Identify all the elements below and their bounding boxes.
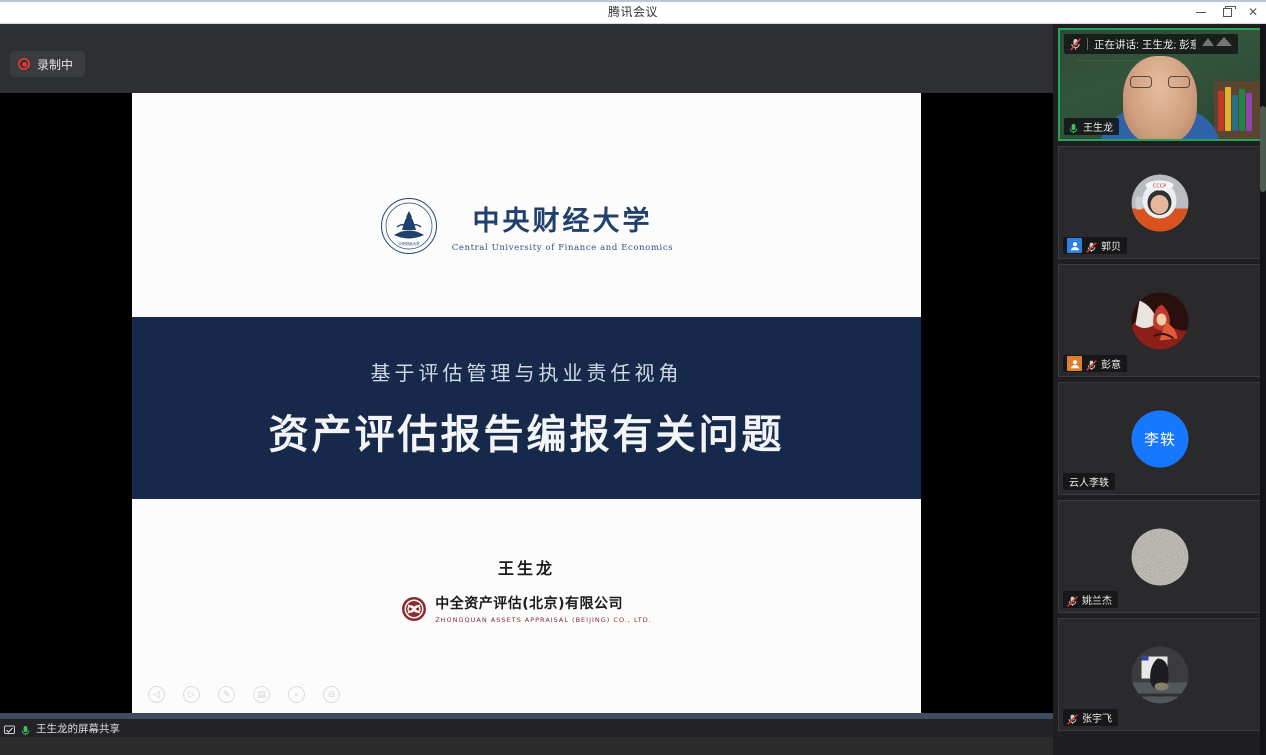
slide-subtitle: 基于评估管理与执业责任视角 bbox=[371, 357, 683, 386]
avatar-initials: 李轶 bbox=[1132, 410, 1189, 467]
participant-name: 姚兰杰 bbox=[1082, 592, 1112, 607]
presentation-toolbar[interactable]: ◁ ▷ ✎ ▤ ⌕ ⊖ bbox=[140, 686, 340, 703]
record-dot-icon bbox=[18, 58, 30, 70]
participant-rail-scrollbar[interactable] bbox=[1260, 24, 1266, 755]
screen-share-label: 王生龙的屏幕共享 bbox=[36, 721, 120, 736]
tencent-meeting-window: 腾讯会议 ✕ 录制中 bbox=[0, 0, 1266, 755]
mic-muted-icon bbox=[1086, 358, 1097, 369]
participant-tile-4[interactable]: 李轶 云人李轶 bbox=[1058, 382, 1262, 495]
participant-name-tag: 张宇飞 bbox=[1063, 709, 1118, 726]
mic-muted-icon bbox=[1070, 38, 1081, 51]
mic-muted-icon bbox=[1067, 712, 1078, 723]
university-name-cn: 中央财经大学 bbox=[472, 199, 652, 238]
mic-muted-icon bbox=[1067, 594, 1078, 605]
svg-text:中央财经大学: 中央财经大学 bbox=[398, 241, 420, 246]
audio-wave-icon bbox=[1202, 35, 1232, 53]
bookshelf bbox=[1214, 81, 1260, 139]
zoom-icon[interactable]: ⌕ bbox=[288, 686, 305, 703]
me-badge-icon bbox=[1067, 356, 1082, 371]
pen-annotate-icon[interactable]: ✎ bbox=[218, 686, 235, 703]
window-controls: ✕ bbox=[1188, 0, 1266, 24]
participant-tile-3[interactable]: 彭意 bbox=[1058, 264, 1262, 377]
maximize-restore-button[interactable] bbox=[1214, 0, 1240, 24]
all-slides-icon[interactable]: ▤ bbox=[253, 686, 270, 703]
stage-top-letterbox bbox=[0, 24, 1053, 93]
mic-muted-icon bbox=[1086, 240, 1097, 251]
speaking-label: 正在讲话: 王生龙; 彭意; bbox=[1094, 37, 1196, 52]
university-logo: 中央财经大学 中央财经大学 Central University of Fina… bbox=[132, 197, 921, 255]
titlebar-accent bbox=[0, 0, 1266, 2]
shared-screen-stage[interactable]: 录制中 中央财经大学 bbox=[0, 24, 1053, 737]
presenter-name: 王生龙 bbox=[498, 555, 555, 579]
share-screen-icon bbox=[4, 723, 15, 734]
window-titlebar: 腾讯会议 ✕ bbox=[0, 0, 1266, 24]
active-speaking-banner: 正在讲话: 王生龙; 彭意; bbox=[1064, 34, 1238, 54]
participant-tile-6[interactable]: 张宇飞 bbox=[1058, 618, 1262, 731]
company-name-en: ZHONGQUAN ASSETS APPRAISAL (BEIJING) CO.… bbox=[435, 616, 652, 624]
avatar bbox=[1132, 528, 1189, 585]
slide-footer: 王生龙 中全资产评估(北京)有限公司 bbox=[132, 555, 921, 624]
company-name-cn: 中全资产评估(北京)有限公司 bbox=[435, 593, 652, 613]
host-badge-icon bbox=[1067, 238, 1082, 253]
presentation-slide[interactable]: 中央财经大学 中央财经大学 Central University of Fina… bbox=[132, 93, 921, 713]
participant-name: 王生龙 bbox=[1083, 119, 1113, 134]
participant-tile-1[interactable]: 正在讲话: 王生龙; 彭意; 王生龙 bbox=[1058, 28, 1262, 141]
university-name-en: Central University of Finance and Econom… bbox=[452, 243, 673, 253]
participant-tile-2[interactable]: CCCP bbox=[1058, 146, 1262, 259]
participant-name-tag: 郭贝 bbox=[1063, 237, 1127, 254]
university-seal-icon: 中央财经大学 bbox=[380, 197, 438, 255]
participant-name: 云人李轶 bbox=[1069, 474, 1109, 489]
mic-on-icon bbox=[1068, 121, 1079, 132]
avatar bbox=[1132, 292, 1189, 349]
company-block: 中全资产评估(北京)有限公司 ZHONGQUAN ASSETS APPRAISA… bbox=[401, 593, 652, 624]
participant-tile-5[interactable]: 姚兰杰 bbox=[1058, 500, 1262, 613]
banner-divider bbox=[1087, 38, 1088, 50]
participant-name-tag: 彭意 bbox=[1063, 355, 1127, 372]
recording-label: 录制中 bbox=[37, 56, 73, 73]
slide-title: 资产评估报告编报有关问题 bbox=[269, 402, 785, 460]
window-title: 腾讯会议 bbox=[608, 3, 658, 20]
next-slide-icon[interactable]: ▷ bbox=[183, 686, 200, 703]
mic-on-icon bbox=[20, 723, 31, 734]
participant-name: 彭意 bbox=[1101, 356, 1121, 371]
screen-share-statusbar: 王生龙的屏幕共享 bbox=[0, 719, 1053, 737]
participant-name-tag: 云人李轶 bbox=[1063, 473, 1115, 490]
minimize-button[interactable] bbox=[1188, 0, 1214, 24]
previous-slide-icon[interactable]: ◁ bbox=[148, 686, 165, 703]
participant-name: 郭贝 bbox=[1101, 238, 1121, 253]
glasses bbox=[1130, 76, 1190, 88]
avatar: CCCP bbox=[1132, 174, 1189, 231]
slide-title-band: 基于评估管理与执业责任视角 资产评估报告编报有关问题 bbox=[132, 317, 921, 499]
participant-rail[interactable]: 正在讲话: 王生龙; 彭意; 王生龙 bbox=[1053, 24, 1266, 755]
svg-text:CCCP: CCCP bbox=[1153, 183, 1167, 189]
company-logo-icon bbox=[401, 596, 427, 622]
recording-indicator: 录制中 bbox=[10, 51, 85, 77]
participant-name-tag: 姚兰杰 bbox=[1063, 591, 1118, 608]
more-options-icon[interactable]: ⊖ bbox=[323, 686, 340, 703]
participant-name: 张宇飞 bbox=[1082, 710, 1112, 725]
close-button[interactable]: ✕ bbox=[1240, 0, 1266, 24]
participant-name-tag: 王生龙 bbox=[1064, 118, 1119, 135]
scrollbar-thumb[interactable] bbox=[1260, 106, 1266, 192]
avatar bbox=[1132, 646, 1189, 703]
